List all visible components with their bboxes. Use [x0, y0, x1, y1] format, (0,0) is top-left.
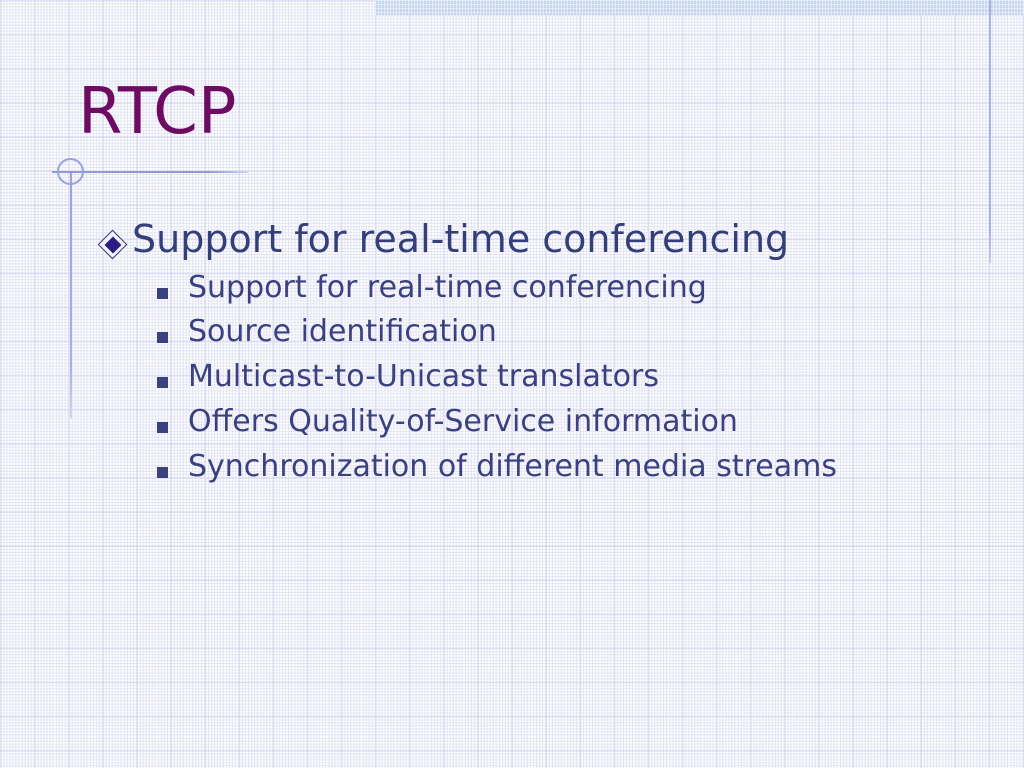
list-item-label: Synchronization of different media strea…: [188, 450, 837, 484]
list-item: Offers Quality-of-Service information: [100, 405, 1000, 439]
presentation-slide: RTCP Support for real-time conferencing …: [0, 0, 1024, 768]
top-blue-band: [375, 0, 1024, 15]
square-bullet-icon: [157, 377, 168, 388]
list-item: Source identification: [100, 315, 1000, 349]
list-item: Multicast-to-Unicast translators: [100, 360, 1000, 394]
list-item: Synchronization of different media strea…: [100, 450, 1000, 484]
square-bullet-icon: [157, 288, 168, 299]
page-title: RTCP: [78, 79, 236, 146]
list-item-label: Support for real-time conferencing: [188, 271, 707, 305]
slide-body-content: Support for real-time conferencing Suppo…: [100, 218, 1000, 495]
square-bullet-icon: [157, 467, 168, 478]
list-item: Support for real-time conferencing: [100, 271, 1000, 305]
list-item-label: Multicast-to-Unicast translators: [188, 360, 659, 394]
list-item-label: Source identification: [188, 315, 497, 349]
left-vertical-rule: [70, 172, 72, 418]
sub-bullet-list: Support for real-time conferencing Sourc…: [100, 271, 1000, 484]
square-bullet-icon: [157, 422, 168, 433]
list-item-level1: Support for real-time conferencing: [100, 218, 1000, 261]
diamond-bullet-icon: [100, 232, 126, 258]
list-item-label: Offers Quality-of-Service information: [188, 405, 738, 439]
square-bullet-icon: [157, 332, 168, 343]
circle-outline-decoration: [57, 158, 84, 185]
list-item-level1-label: Support for real-time conferencing: [132, 218, 789, 261]
